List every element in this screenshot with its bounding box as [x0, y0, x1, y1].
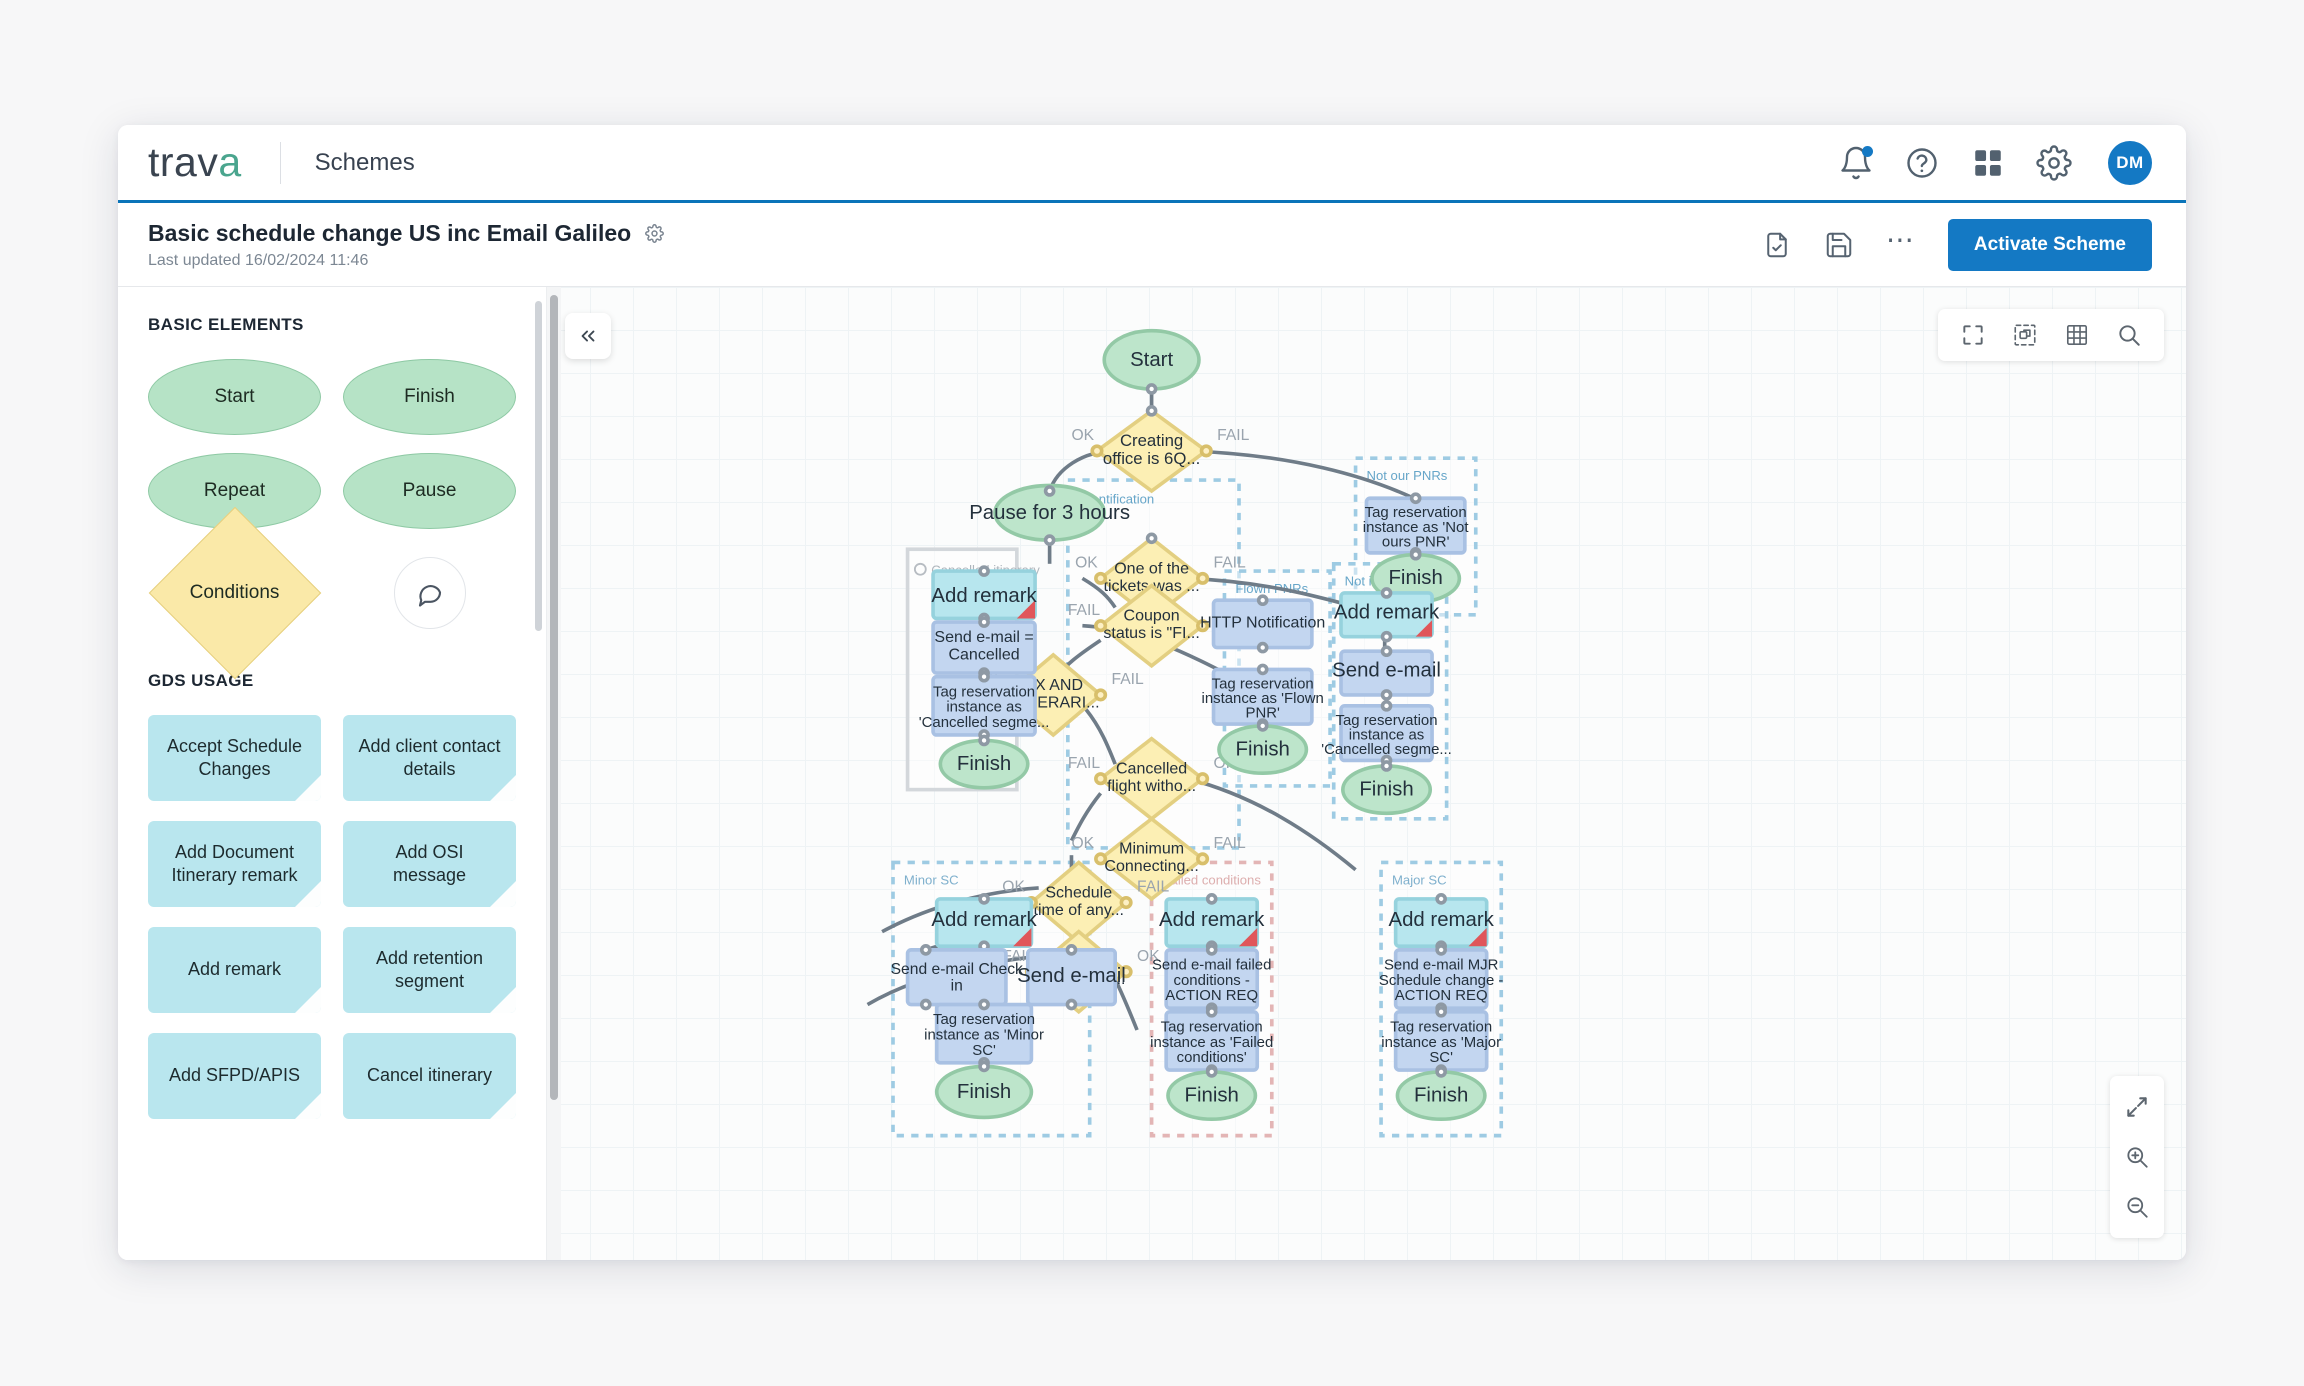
main-body: BASIC ELEMENTS Start Finish Repeat Pause… [118, 287, 2186, 1260]
node-label: Finish [957, 1081, 1011, 1103]
gds-item-add-document-itinerary-remark[interactable]: Add Document Itinerary remark [148, 821, 321, 907]
canvas-zoom-controls [2110, 1076, 2164, 1238]
element-pause[interactable]: Pause [343, 453, 516, 529]
save-icon[interactable] [1824, 230, 1854, 260]
elements-sidebar: BASIC ELEMENTS Start Finish Repeat Pause… [118, 287, 546, 1260]
node-label-line2: time of any... [1034, 901, 1125, 919]
node-label: Finish [1185, 1084, 1239, 1106]
node-tag-flown-pnr[interactable]: Tag reservation instance as 'Flown PNR' [1202, 665, 1324, 728]
node-label-line2: status is "FI... [1103, 624, 1199, 642]
sidebar-fade [118, 1230, 546, 1260]
edge-label-ok: OK [1002, 879, 1025, 896]
node-cancelled-tag-reservation[interactable]: Tag reservation instance as 'Cancelled s… [919, 673, 1050, 739]
node-label: Send e-mail [1017, 965, 1126, 987]
scheme-settings-gear-icon[interactable] [645, 224, 664, 243]
group-label-minor-sc: Minor SC [904, 872, 959, 887]
grid-icon[interactable] [2064, 322, 2090, 348]
node-label-line1: Minimum [1119, 840, 1184, 858]
node-label: Finish [1388, 567, 1442, 589]
node-label: Pause for 3 hours [969, 502, 1130, 524]
canvas-toolbar [1938, 309, 2164, 361]
basic-elements-grid: Start Finish Repeat Pause Conditions [148, 359, 516, 639]
group-label-not-our-pnrs: Not our PNRs [1366, 468, 1447, 483]
node-label-line3: conditions' [1177, 1049, 1247, 1066]
node-notissued-add-remark[interactable]: Add remark [1334, 589, 1440, 641]
element-conditions-label: Conditions [190, 582, 280, 604]
scheme-header: Basic schedule change US inc Email Galil… [118, 203, 2186, 287]
node-label: Add remark [1159, 909, 1265, 931]
chevron-double-left-icon [577, 325, 599, 347]
scheme-actions: ⋯ Activate Scheme [1762, 219, 2152, 271]
logo-text: trav [148, 139, 218, 186]
document-check-icon[interactable] [1762, 230, 1792, 260]
node-label-line2: in [951, 978, 963, 995]
node-failed-send-email[interactable]: Send e-mail failed conditions - ACTION R… [1152, 946, 1271, 1012]
collapse-sidebar-button[interactable] [565, 313, 611, 359]
node-label-line1: Send e-mail = [934, 628, 1033, 646]
node-label-line2: Cancelled [948, 646, 1019, 664]
notification-dot [1862, 146, 1873, 157]
node-cancelled-send-email[interactable]: Send e-mail = Cancelled [933, 618, 1035, 677]
node-label-line3: SC' [1429, 1049, 1453, 1066]
gds-item-add-remark[interactable]: Add remark [148, 927, 321, 1013]
gds-item-cancel-itinerary[interactable]: Cancel itinerary [343, 1033, 516, 1119]
basic-elements-heading: BASIC ELEMENTS [148, 315, 516, 335]
node-label: Add remark [931, 909, 1037, 931]
edge-label-fail: FAIL [1112, 671, 1144, 688]
gds-usage-grid: Accept Schedule Changes Add client conta… [148, 715, 516, 1119]
node-label-line1: Cancelled [1116, 760, 1187, 778]
more-options-icon[interactable]: ⋯ [1886, 235, 1916, 255]
element-comment[interactable] [343, 547, 516, 639]
node-label-line1: Schedule [1045, 883, 1112, 901]
element-start[interactable]: Start [148, 359, 321, 435]
expand-icon[interactable] [2124, 1094, 2150, 1120]
node-label-line2: Connecting... [1104, 857, 1198, 875]
page-title: Basic schedule change US inc Email Galil… [148, 220, 631, 247]
node-notissued-tag-reservation[interactable]: Tag reservation instance as 'Cancelled s… [1321, 702, 1452, 765]
zoom-in-icon[interactable] [2124, 1144, 2150, 1170]
search-icon[interactable] [2116, 322, 2142, 348]
node-major-add-remark[interactable]: Add remark [1389, 895, 1495, 950]
node-failed-tag-reservation[interactable]: Tag reservation instance as 'Failed cond… [1150, 1008, 1273, 1074]
node-label-line3: SC' [972, 1042, 996, 1059]
group-label-major-sc: Major SC [1392, 872, 1447, 887]
node-minor-send-email[interactable]: Send e-mail [1017, 946, 1126, 1009]
apps-grid-icon[interactable] [1970, 145, 2006, 181]
element-conditions[interactable]: Conditions [148, 547, 321, 639]
node-label: Finish [957, 753, 1011, 775]
trava-logo[interactable]: trava [148, 139, 242, 186]
edge-label-ok: OK [1071, 427, 1094, 444]
node-cancelled-add-remark[interactable]: Add remark [931, 567, 1037, 622]
node-major-send-email[interactable]: Send e-mail MJR Schedule change - ACTION… [1379, 946, 1503, 1012]
node-failed-add-remark[interactable]: Add remark [1159, 895, 1265, 950]
flow-diagram[interactable]: Identification Cancelled itinerary Not o… [547, 287, 2186, 1260]
edge-label-ok: OK [1071, 835, 1094, 852]
node-label-line3: ACTION REQ [1165, 987, 1258, 1004]
edge-label-fail: FAIL [1068, 602, 1100, 619]
node-tag-not-ours-pnr[interactable]: Tag reservation instance as 'Not ours PN… [1363, 494, 1470, 557]
node-label: Finish [1236, 738, 1290, 760]
gds-item-add-osi-message[interactable]: Add OSI message [343, 821, 516, 907]
node-label-line1: Send e-mail Check [891, 961, 1023, 978]
gds-usage-heading: GDS USAGE [148, 671, 516, 691]
node-http-notification[interactable]: HTTP Notification [1200, 596, 1325, 651]
node-minor-add-remark[interactable]: Add remark [931, 895, 1037, 950]
gear-icon[interactable] [2036, 145, 2072, 181]
node-minor-tag-reservation[interactable]: Tag reservation instance as 'Minor SC' [924, 1001, 1044, 1067]
node-start[interactable]: Start [1104, 331, 1199, 393]
node-label: Send e-mail [1332, 660, 1441, 682]
node-minor-send-email-checkin[interactable]: Send e-mail Check in [891, 946, 1023, 1009]
comment-icon [394, 557, 466, 629]
node-label: Finish [1414, 1084, 1468, 1106]
node-label-line3: 'Cancelled segme... [919, 714, 1050, 731]
edge-label-fail: FAIL [1137, 879, 1169, 896]
node-label-line2: office is 6Q... [1103, 449, 1200, 468]
node-label-line1: Coupon [1124, 607, 1180, 625]
header-divider [280, 142, 281, 184]
edge-label-fail: FAIL [1217, 427, 1249, 444]
gds-item-add-retention-segment[interactable]: Add retention segment [343, 927, 516, 1013]
fullscreen-icon[interactable] [1960, 322, 1986, 348]
app-window: trava Schemes [118, 125, 2186, 1260]
node-label: HTTP Notification [1200, 614, 1325, 632]
logo-text-accent: a [218, 139, 241, 186]
breadcrumb[interactable]: Schemes [315, 149, 415, 177]
zoom-out-icon[interactable] [2124, 1194, 2150, 1220]
fit-selection-icon[interactable] [2012, 322, 2038, 348]
gds-item-accept-schedule-changes[interactable]: Accept Schedule Changes [148, 715, 321, 801]
node-major-tag-reservation[interactable]: Tag reservation instance as 'Major SC' [1381, 1008, 1501, 1074]
node-label-line1: One of the [1114, 559, 1189, 577]
node-label-line2: flight witho... [1107, 777, 1196, 795]
help-icon[interactable] [1904, 145, 1940, 181]
gds-item-add-client-contact-details[interactable]: Add client contact details [343, 715, 516, 801]
avatar[interactable]: DM [2108, 141, 2152, 185]
node-label: Add remark [1334, 601, 1440, 623]
scheme-canvas[interactable]: Identification Cancelled itinerary Not o… [546, 287, 2186, 1260]
edge-label-fail: FAIL [1068, 755, 1100, 772]
node-notissued-send-email[interactable]: Send e-mail [1332, 647, 1441, 699]
node-label: Add remark [931, 585, 1037, 607]
last-updated-text: Last updated 16/02/2024 11:46 [148, 252, 664, 270]
node-label-line3: ACTION REQ [1395, 987, 1488, 1004]
sidebar-scrollbar[interactable] [535, 301, 542, 631]
bell-icon[interactable] [1838, 145, 1874, 181]
edge-label-fail: FAIL [1214, 554, 1246, 571]
node-label: Finish [1359, 778, 1413, 800]
top-navigation-bar: trava Schemes [118, 125, 2186, 203]
topbar-icon-group: DM [1838, 141, 2152, 185]
node-label: Start [1130, 349, 1173, 371]
edge-label-fail: FAIL [1214, 835, 1246, 852]
gds-item-add-sfpd-apis[interactable]: Add SFPD/APIS [148, 1033, 321, 1119]
node-label-line1: Creating [1120, 431, 1183, 450]
activate-scheme-button[interactable]: Activate Scheme [1948, 219, 2152, 271]
element-finish[interactable]: Finish [343, 359, 516, 435]
edge-label-ok: OK [1075, 554, 1098, 571]
node-label: Add remark [1389, 909, 1495, 931]
